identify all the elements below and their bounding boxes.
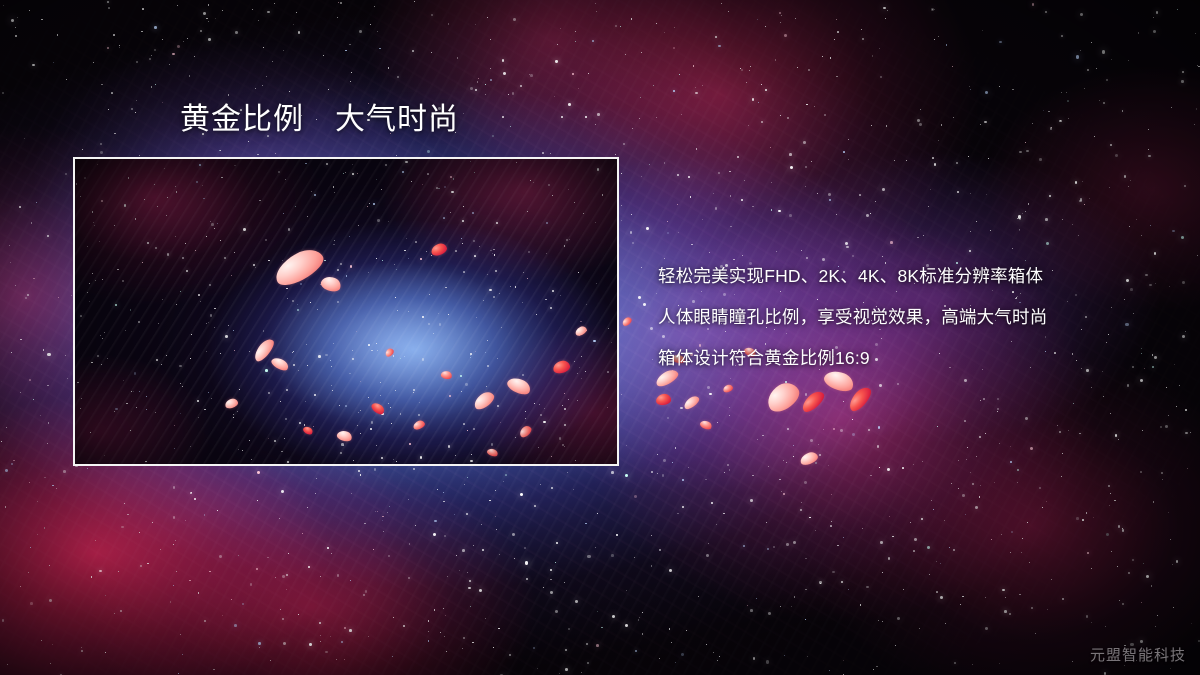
display-panel-content — [75, 159, 617, 464]
description-line-3: 箱体设计符合黄金比例16:9 — [658, 338, 1178, 379]
panel-vignette — [75, 159, 617, 464]
display-panel-frame — [73, 157, 619, 466]
presentation-slide: 黄金比例 大气时尚 轻松完美实现FHD、2K、4K、8K标准分辨率箱体 人体眼睛… — [0, 0, 1200, 675]
feature-description: 轻松完美实现FHD、2K、4K、8K标准分辨率箱体 人体眼睛瞳孔比例，享受视觉效… — [658, 256, 1178, 379]
watermark: 元盟智能科技 — [1090, 644, 1186, 665]
description-line-2: 人体眼睛瞳孔比例，享受视觉效果，高端大气时尚 — [658, 297, 1178, 338]
page-title: 黄金比例 大气时尚 — [180, 102, 459, 138]
description-line-1: 轻松完美实现FHD、2K、4K、8K标准分辨率箱体 — [658, 256, 1178, 297]
